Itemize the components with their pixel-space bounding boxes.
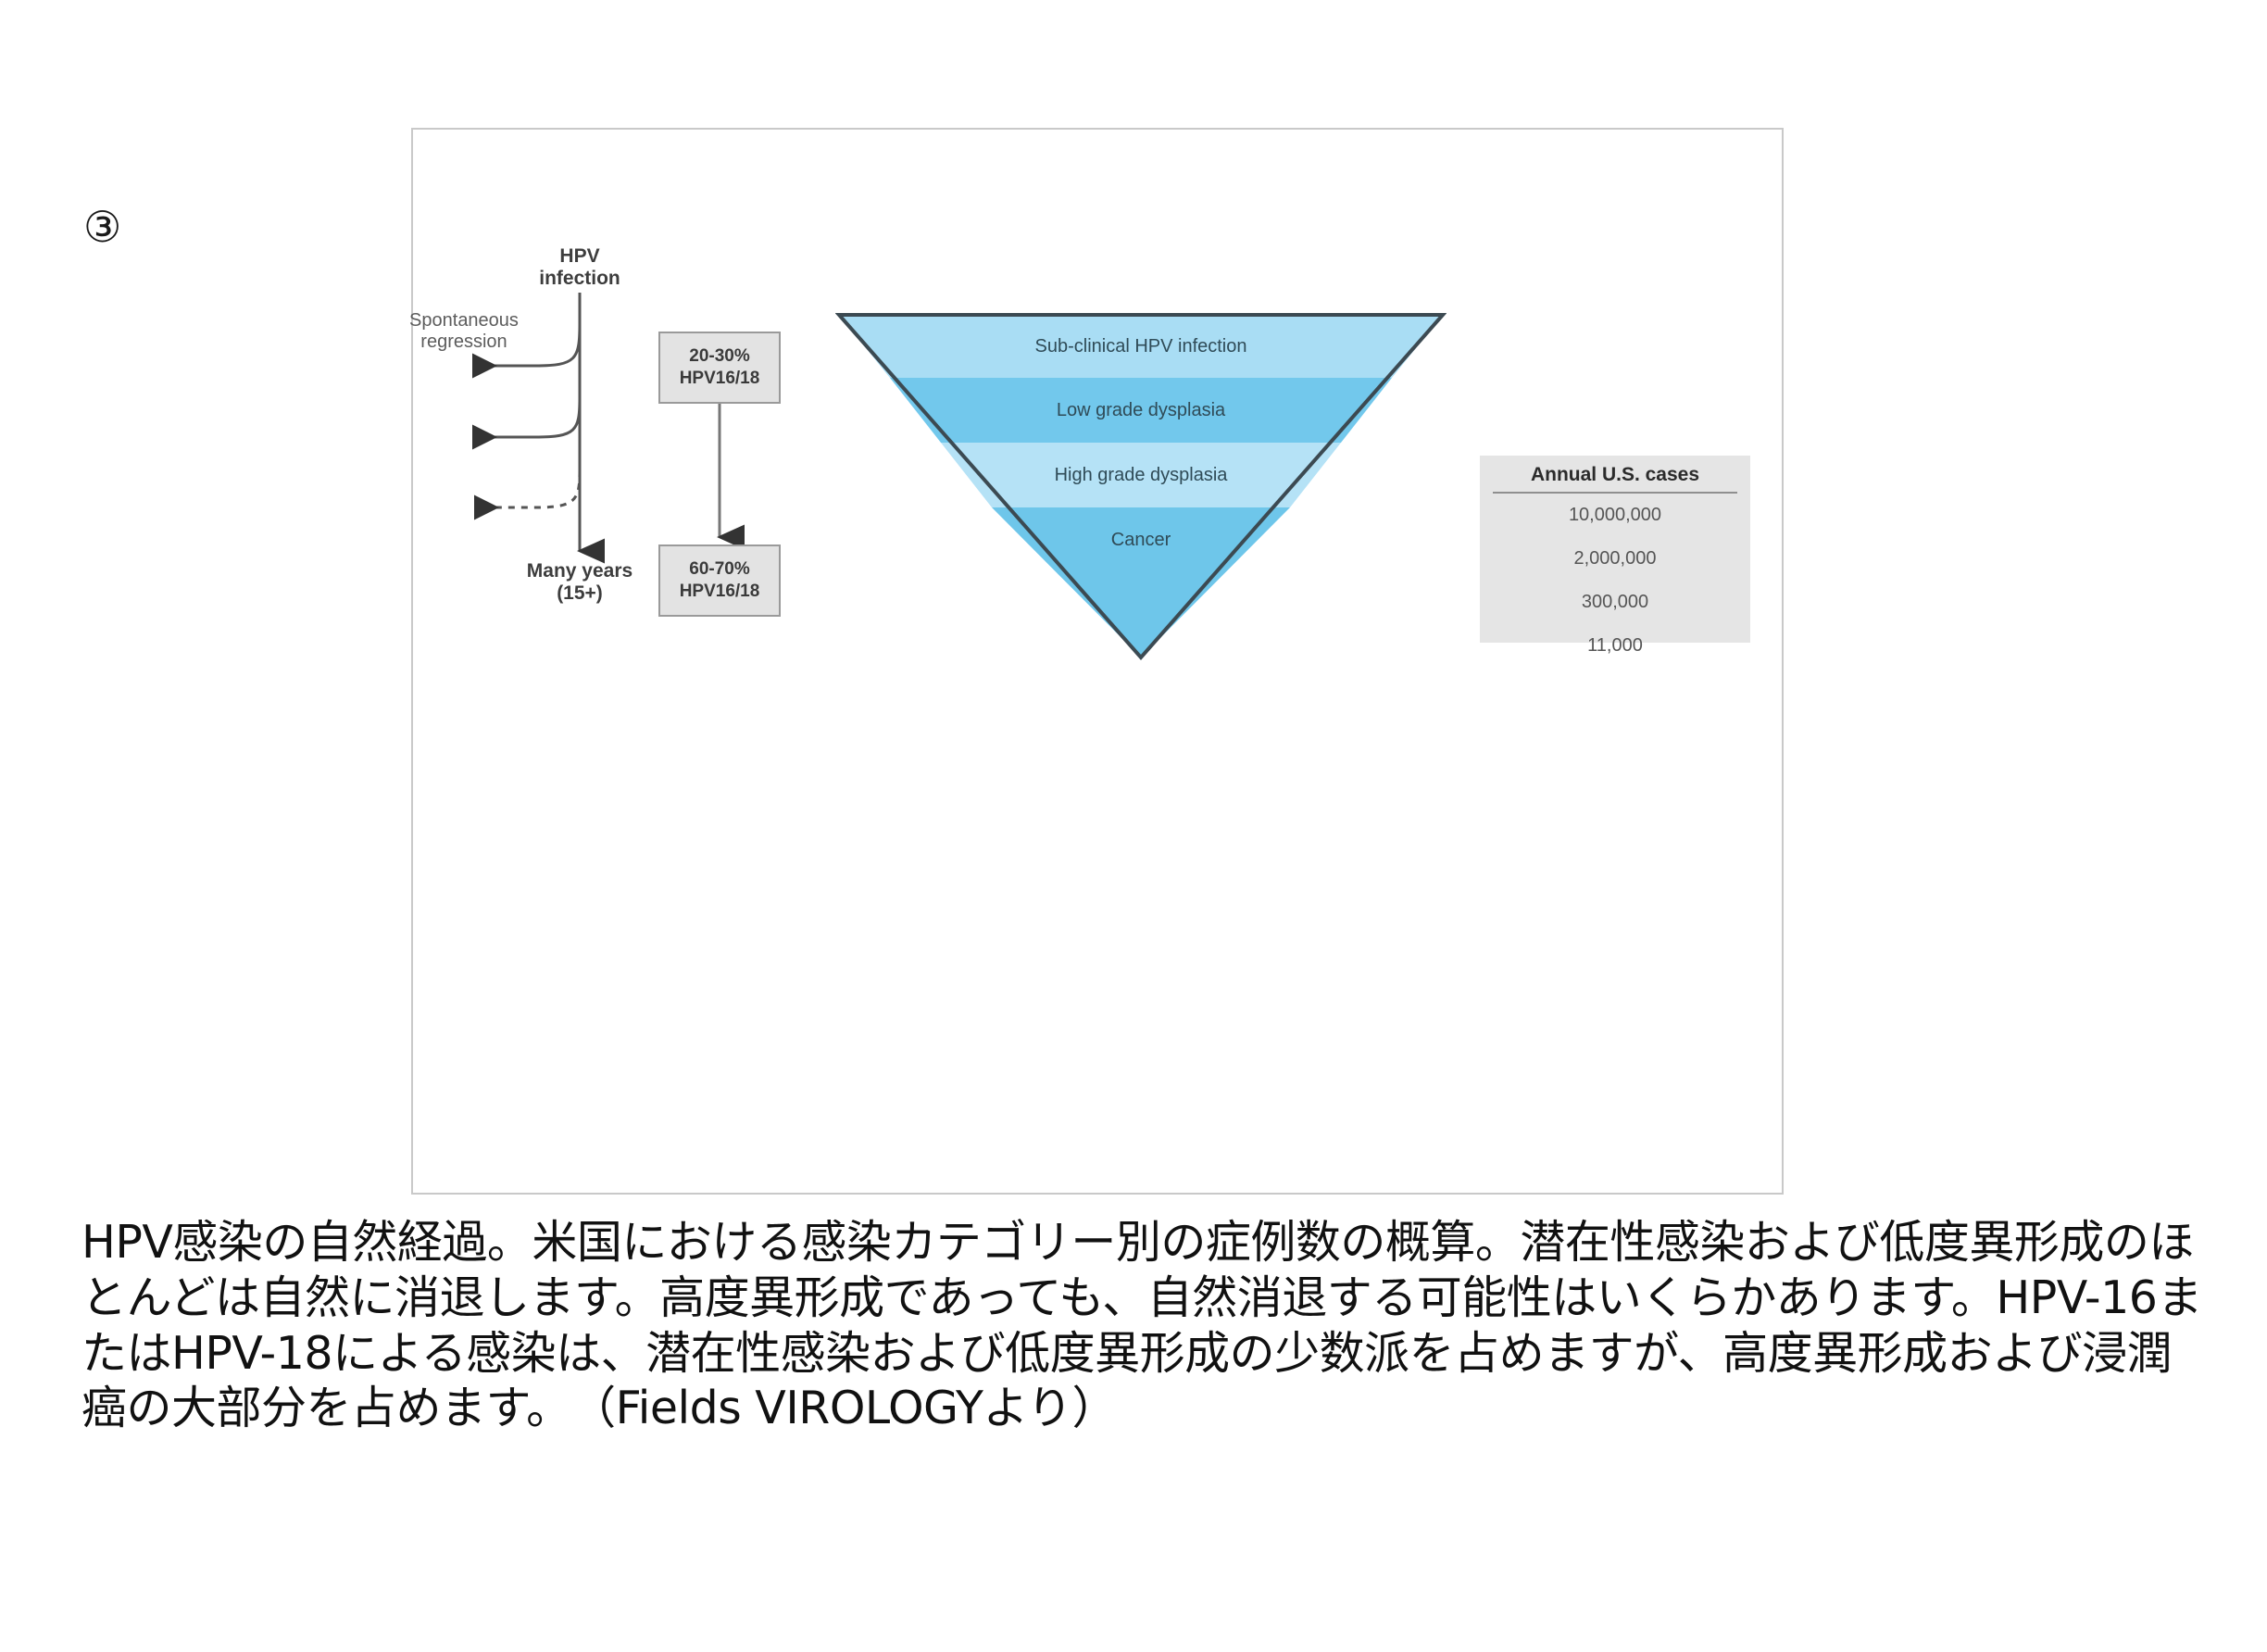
figure-frame: HPV infection Spontaneous regression Man… xyxy=(411,128,1784,1195)
spontaneous-regression-label: Spontaneous regression xyxy=(311,310,617,353)
hpv-type-box-lower-percent: 60-70% xyxy=(689,558,750,581)
figure-caption: HPV感染の自然経過。米国における感染カテゴリー別の症例数の概算。潜在性感染およ… xyxy=(81,1215,2202,1436)
pyramid-svg xyxy=(835,311,1447,661)
regression-arrow-2 xyxy=(478,398,580,437)
annual-cases-value-high-grade: 300,000 xyxy=(1480,581,1750,624)
hpv-type-box-upper-types: HPV16/18 xyxy=(680,368,760,390)
annual-cases-title: Annual U.S. cases xyxy=(1480,464,1750,492)
annual-cases-value-cancer: 11,000 xyxy=(1480,624,1750,668)
annual-cases-value-low-grade: 2,000,000 xyxy=(1480,537,1750,581)
pyramid-band-low-grade xyxy=(890,378,1392,443)
regression-arrow-3 xyxy=(480,470,580,507)
hpv-type-box-upper-percent: 20-30% xyxy=(689,345,750,368)
slide-number-marker: ③ xyxy=(83,206,121,248)
pyramid-band-cancer xyxy=(992,507,1290,657)
annual-cases-value-subclinical: 10,000,000 xyxy=(1480,494,1750,537)
annual-cases-panel: Annual U.S. cases 10,000,000 2,000,000 3… xyxy=(1480,456,1750,643)
disease-severity-pyramid: Sub-clinical HPV infection Low grade dys… xyxy=(835,311,1447,661)
hpv-type-box-upper: 20-30% HPV16/18 xyxy=(658,332,781,404)
pyramid-band-subclinical xyxy=(839,315,1443,378)
hpv-infection-label: HPV infection xyxy=(413,245,746,290)
hpv-type-box-lower: 60-70% HPV16/18 xyxy=(658,544,781,617)
hpv-type-box-lower-types: HPV16/18 xyxy=(680,581,760,603)
